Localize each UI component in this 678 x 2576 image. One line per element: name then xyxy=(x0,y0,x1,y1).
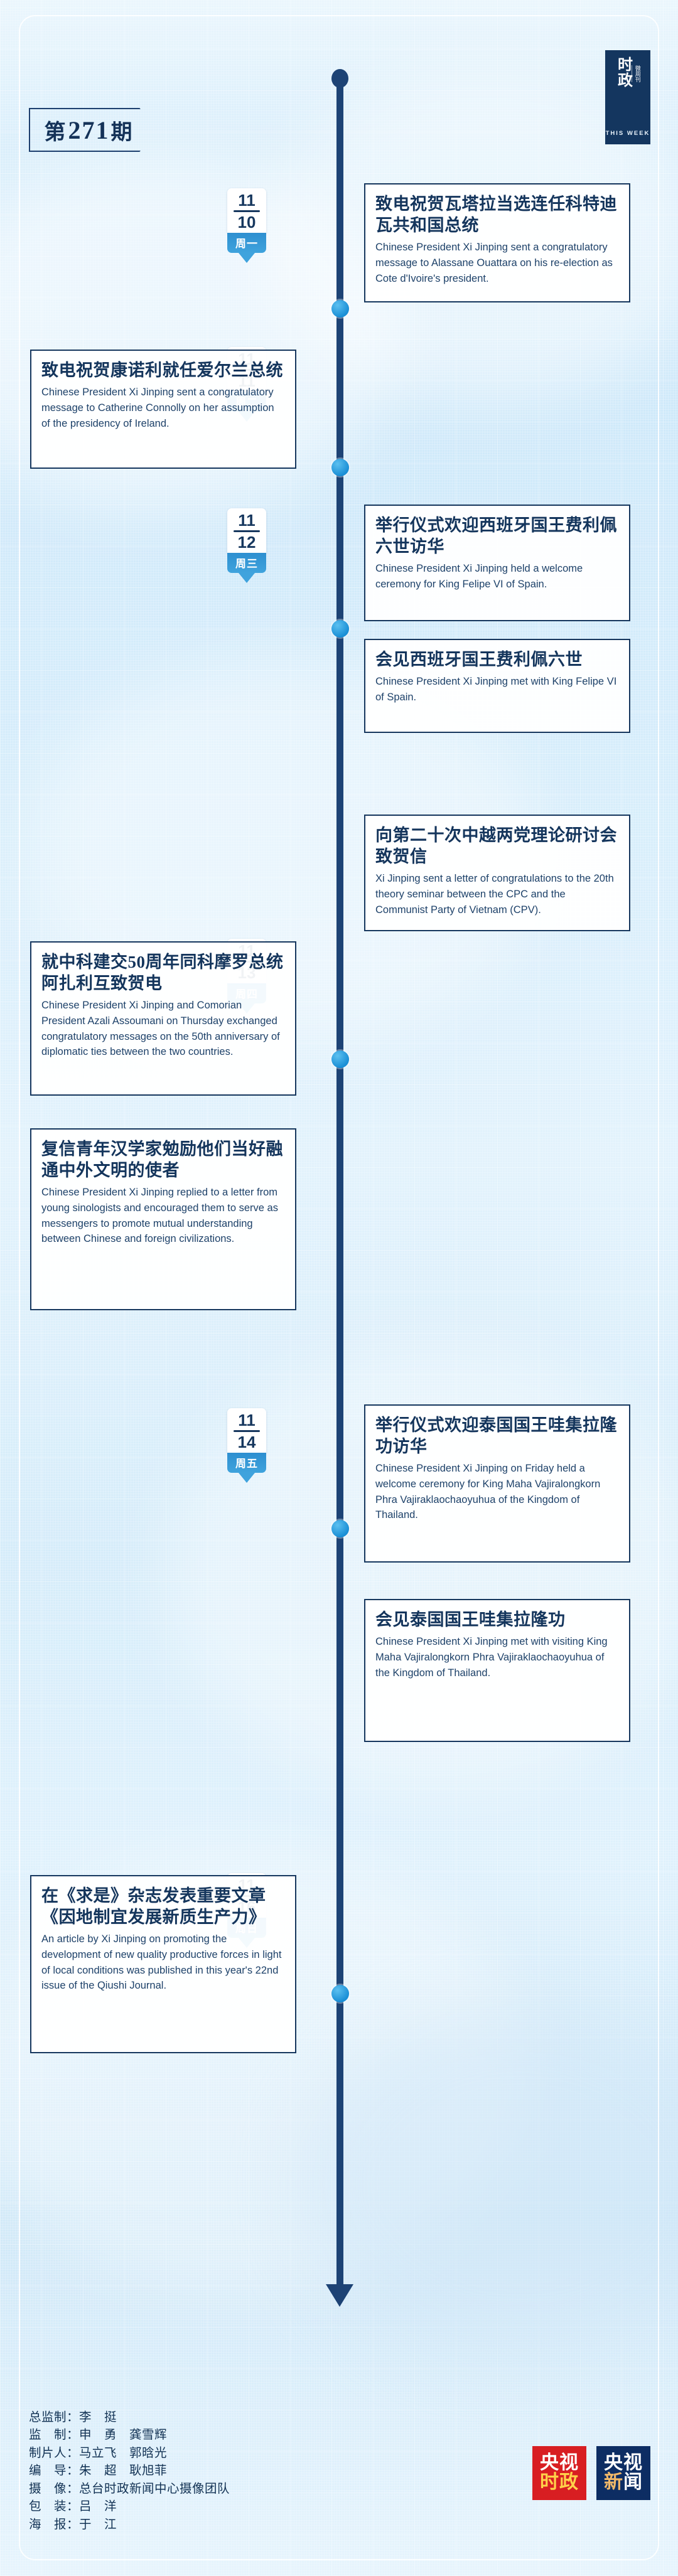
issue-suffix: 期 xyxy=(111,115,134,146)
credit-row: 总监制：李 挺 xyxy=(29,2408,230,2426)
poster-canvas: 第271期 时政 微周刊 THIS WEEK 11 10 周一 11 11 周二 xyxy=(0,0,678,2576)
date-month: 11 xyxy=(230,512,264,528)
logo-en-text: THIS WEEK xyxy=(605,130,650,137)
date-badge-box: 11 12 xyxy=(227,508,266,553)
brand-logo-cctv-xinwen[interactable]: 央视 新闻 xyxy=(596,2446,650,2500)
event-title-en: Chinese President Xi Jinping replied to … xyxy=(41,1185,285,1247)
date-badge-tip xyxy=(239,573,255,583)
logo-sub-text: 微周刊 xyxy=(632,65,640,82)
event-card[interactable]: 向第二十次中越两党理论研讨会致贺信 Xi Jinping sent a lett… xyxy=(364,815,630,931)
date-badge-tip xyxy=(239,253,255,263)
date-badge[interactable]: 11 14 周五 xyxy=(227,1408,266,1483)
date-badge-tip xyxy=(239,1473,255,1483)
event-title-en: An article by Xi Jinping on promoting th… xyxy=(41,1932,285,1994)
background-wash-6 xyxy=(301,2008,678,2360)
event-card[interactable]: 在《求是》杂志发表重要文章《因地制宜发展新质生产力》 An article by… xyxy=(30,1875,296,2053)
date-day: 10 xyxy=(230,214,264,230)
footer-credits: 总监制：李 挺 监 制：申 勇 龚雪辉 制片人：马立飞 郭晗光 编 导：朱 超 … xyxy=(29,2408,230,2533)
date-weekday: 周三 xyxy=(227,553,266,573)
event-title-zh: 致电祝贺瓦塔拉当选连任科特迪瓦共和国总统 xyxy=(375,193,619,236)
event-title-zh: 会见泰国国王哇集拉隆功 xyxy=(375,1609,619,1630)
magazine-logo-cn: 时政 微周刊 xyxy=(615,56,640,88)
date-day: 14 xyxy=(230,1434,264,1450)
credit-row: 制片人：马立飞 郭晗光 xyxy=(29,2444,230,2462)
date-badge-box: 11 10 xyxy=(227,188,266,233)
magazine-logo: 时政 微周刊 THIS WEEK xyxy=(605,50,650,144)
event-title-zh: 举行仪式欢迎西班牙国王费利佩六世访华 xyxy=(375,515,619,557)
event-title-zh: 会见西班牙国王费利佩六世 xyxy=(375,649,619,670)
event-title-en: Chinese President Xi Jinping sent a cong… xyxy=(41,385,285,431)
event-title-en: Chinese President Xi Jinping on Friday h… xyxy=(375,1461,619,1523)
date-weekday: 周一 xyxy=(227,233,266,253)
event-title-zh: 举行仪式欢迎泰国国王哇集拉隆功访华 xyxy=(375,1414,619,1457)
event-title-zh: 就中科建交50周年同科摩罗总统阿扎利互致贺电 xyxy=(41,951,285,994)
timeline-axis xyxy=(336,74,343,2289)
date-day: 12 xyxy=(230,534,264,550)
date-month: 11 xyxy=(230,1412,264,1428)
timeline-dot xyxy=(331,1520,349,1537)
brand-line-1: 央视 xyxy=(604,2454,643,2473)
timeline-axis-arrow xyxy=(326,2284,353,2307)
issue-badge-text: 第271期 xyxy=(29,108,158,152)
event-title-en: Chinese President Xi Jinping sent a cong… xyxy=(375,240,619,286)
date-rule xyxy=(234,1430,260,1432)
credit-row: 包 装：吕 洋 xyxy=(29,2498,230,2515)
event-card[interactable]: 举行仪式欢迎西班牙国王费利佩六世访华 Chinese President Xi … xyxy=(364,505,630,621)
credit-row: 摄 像：总台时政新闻中心摄像团队 xyxy=(29,2480,230,2498)
event-title-en: Xi Jinping sent a letter of congratulati… xyxy=(375,871,619,917)
event-card[interactable]: 举行仪式欢迎泰国国王哇集拉隆功访华 Chinese President Xi J… xyxy=(364,1404,630,1563)
date-badge[interactable]: 11 10 周一 xyxy=(227,188,266,263)
date-rule xyxy=(234,530,260,532)
credit-row: 监 制：申 勇 龚雪辉 xyxy=(29,2426,230,2444)
logo-main-text: 时政 xyxy=(615,56,630,88)
event-title-zh: 复信青年汉学家勉励他们当好融通中外文明的使者 xyxy=(41,1138,285,1181)
event-title-en: Chinese President Xi Jinping met with Ki… xyxy=(375,674,619,705)
brand-line-2: 时政 xyxy=(540,2473,579,2493)
event-card[interactable]: 致电祝贺康诺利就任爱尔兰总统 Chinese President Xi Jinp… xyxy=(30,350,296,469)
timeline-dot xyxy=(331,620,349,638)
event-card[interactable]: 致电祝贺瓦塔拉当选连任科特迪瓦共和国总统 Chinese President X… xyxy=(364,183,630,302)
credit-row: 编 导：朱 超 耿旭菲 xyxy=(29,2462,230,2479)
event-card[interactable]: 复信青年汉学家勉励他们当好融通中外文明的使者 Chinese President… xyxy=(30,1128,296,1310)
event-title-zh: 致电祝贺康诺利就任爱尔兰总统 xyxy=(41,360,285,381)
timeline-dot xyxy=(331,1985,349,2002)
event-title-zh: 向第二十次中越两党理论研讨会致贺信 xyxy=(375,825,619,867)
timeline-dot xyxy=(331,300,349,318)
timeline-dot xyxy=(331,459,349,476)
event-card[interactable]: 会见西班牙国王费利佩六世 Chinese President Xi Jinpin… xyxy=(364,639,630,733)
date-badge-box: 11 14 xyxy=(227,1408,266,1453)
event-title-zh: 在《求是》杂志发表重要文章《因地制宜发展新质生产力》 xyxy=(41,1885,285,1928)
brand-line-2: 新闻 xyxy=(604,2473,643,2493)
date-rule xyxy=(234,210,260,212)
brand-logos: 央视 时政 央视 新闻 xyxy=(532,2446,650,2500)
date-month: 11 xyxy=(230,192,264,208)
issue-number: 271 xyxy=(68,115,110,145)
date-weekday: 周五 xyxy=(227,1453,266,1473)
event-card[interactable]: 就中科建交50周年同科摩罗总统阿扎利互致贺电 Chinese President… xyxy=(30,941,296,1096)
date-badge[interactable]: 11 12 周三 xyxy=(227,508,266,583)
timeline-dot xyxy=(331,1050,349,1068)
event-card[interactable]: 会见泰国国王哇集拉隆功 Chinese President Xi Jinping… xyxy=(364,1599,630,1742)
issue-badge: 第271期 xyxy=(29,108,158,152)
credit-row: 海 报：于 江 xyxy=(29,2516,230,2533)
brand-logo-cctv-shizheng[interactable]: 央视 时政 xyxy=(532,2446,586,2500)
issue-prefix: 第 xyxy=(45,115,67,146)
event-title-en: Chinese President Xi Jinping met with vi… xyxy=(375,1634,619,1681)
event-title-en: Chinese President Xi Jinping held a welc… xyxy=(375,561,619,592)
event-title-en: Chinese President Xi Jinping and Comoria… xyxy=(41,998,285,1060)
brand-line-1: 央视 xyxy=(540,2454,579,2473)
